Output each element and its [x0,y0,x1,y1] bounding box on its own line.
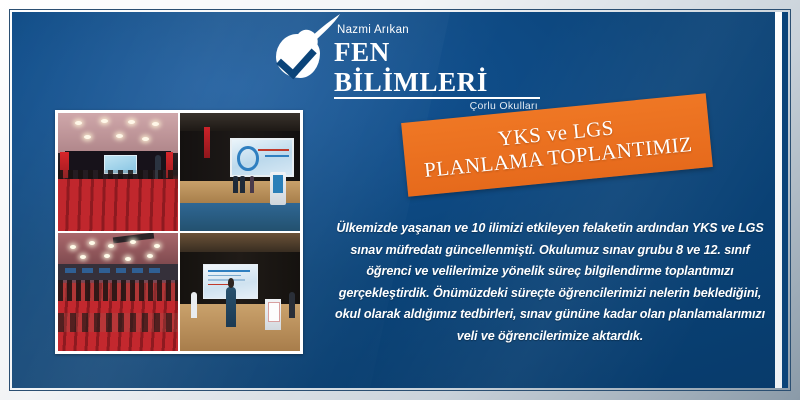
photo-collage [58,113,300,351]
photo-stage-presentation [180,113,300,231]
photo-person [191,292,197,318]
photo-audience-heads [58,280,178,301]
photo-carpet [180,203,300,231]
brand-name-sub: Çorlu Okulları [334,99,540,113]
photo-light [104,254,110,258]
photo-ceiling [58,113,178,153]
photo-wall-panel [65,268,76,273]
brand-name-top: Nazmi Arıkan [334,24,540,37]
photo-speaker-presenting [180,233,300,351]
photo-person [240,176,245,194]
photo-slide-line [208,270,250,272]
photo-light [70,245,76,249]
photo-podium [270,172,286,205]
photo-light [116,134,123,138]
photo-wall-panel [99,268,110,273]
photo-podium-display [268,302,281,322]
photo-wall-panel [82,268,93,273]
photo-person [233,176,238,194]
photo-flag [204,127,210,158]
brush-stroke-icon [306,14,342,44]
photo-speaker [226,287,237,327]
announcement-paragraph: Ülkemizde yaşanan ve 10 ilimizi etkileye… [332,218,768,347]
brand-logo: Nazmi Arıkan FEN BİLİMLERİ Çorlu Okullar… [272,22,540,92]
photo-wall-panel [149,268,160,273]
photo-podium [265,299,281,330]
photo-slide-line [208,279,245,281]
photo-audience-heads [58,313,178,332]
right-blue-edge [782,12,788,388]
photo-person [250,176,255,194]
poster-canvas: Nazmi Arıkan FEN BİLİMLERİ Çorlu Okullar… [0,0,800,400]
photo-auditorium-stage-wide [58,113,178,231]
right-white-strip [775,12,782,388]
photo-wall-panel [116,268,127,273]
photo-person [289,292,295,318]
photo-light [108,244,114,248]
photo-podium-display [273,175,283,193]
photo-stage-floor [180,304,300,351]
brand-name-main: FEN BİLİMLERİ [334,37,540,99]
photo-light [125,257,131,261]
photo-audience-seats [58,233,178,351]
photo-light [101,119,108,123]
photo-slide-logo [237,146,259,170]
photo-light [142,137,149,141]
photo-seats [58,179,178,231]
photo-slide-line [258,149,289,151]
photo-speaker-head [228,278,235,288]
photo-wall-panel [132,268,143,273]
photo-light [128,120,135,124]
photo-slide-line [265,155,289,157]
check-brush-logo-icon [272,22,330,84]
photo-collage-frame [55,110,303,354]
photo-light [154,244,160,248]
photo-slide-line [208,275,241,277]
brand-wordmark: Nazmi Arıkan FEN BİLİMLERİ Çorlu Okullar… [330,22,540,113]
